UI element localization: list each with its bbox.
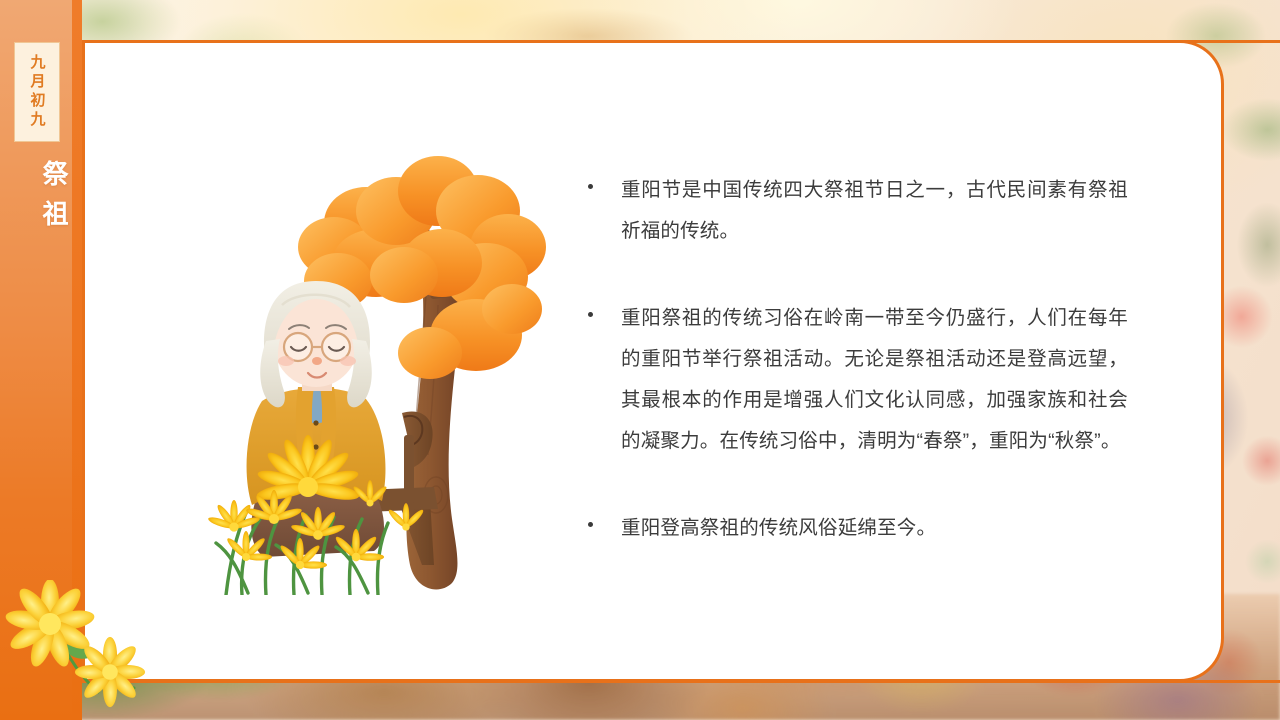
sidebar-topic-label: 祭祖 — [0, 160, 72, 240]
illustration-autumn-scene — [190, 95, 590, 595]
date-badge-label: 九月初九 — [30, 54, 45, 130]
slide-root: 九月初九 祭祖 — [0, 0, 1280, 720]
list-item: 重阳节是中国传统四大祭祖节日之一，古代民间素有祭祖祈福的传统。 — [583, 170, 1128, 252]
bullet-list: 重阳节是中国传统四大祭祖节日之一，古代民间素有祭祖祈福的传统。 重阳祭祖的传统习… — [583, 170, 1128, 549]
bullet-text: 重阳祭祖的传统习俗在岭南一带至今仍盛行，人们在每年的重阳节举行祭祖活动。无论是祭… — [621, 298, 1128, 462]
sidebar-accent-rule — [72, 0, 82, 720]
list-item: 重阳登高祭祖的传统风俗延绵至今。 — [583, 508, 1128, 549]
bullet-dot-icon — [588, 184, 593, 189]
bullet-dot-icon — [588, 522, 593, 527]
bullet-text: 重阳节是中国传统四大祭祖节日之一，古代民间素有祭祖祈福的传统。 — [621, 170, 1128, 252]
bullet-dot-icon — [588, 312, 593, 317]
bullet-text: 重阳登高祭祖的传统风俗延绵至今。 — [621, 508, 1128, 549]
date-badge: 九月初九 — [14, 42, 60, 142]
list-item: 重阳祭祖的传统习俗在岭南一带至今仍盛行，人们在每年的重阳节举行祭祖活动。无论是祭… — [583, 298, 1128, 462]
